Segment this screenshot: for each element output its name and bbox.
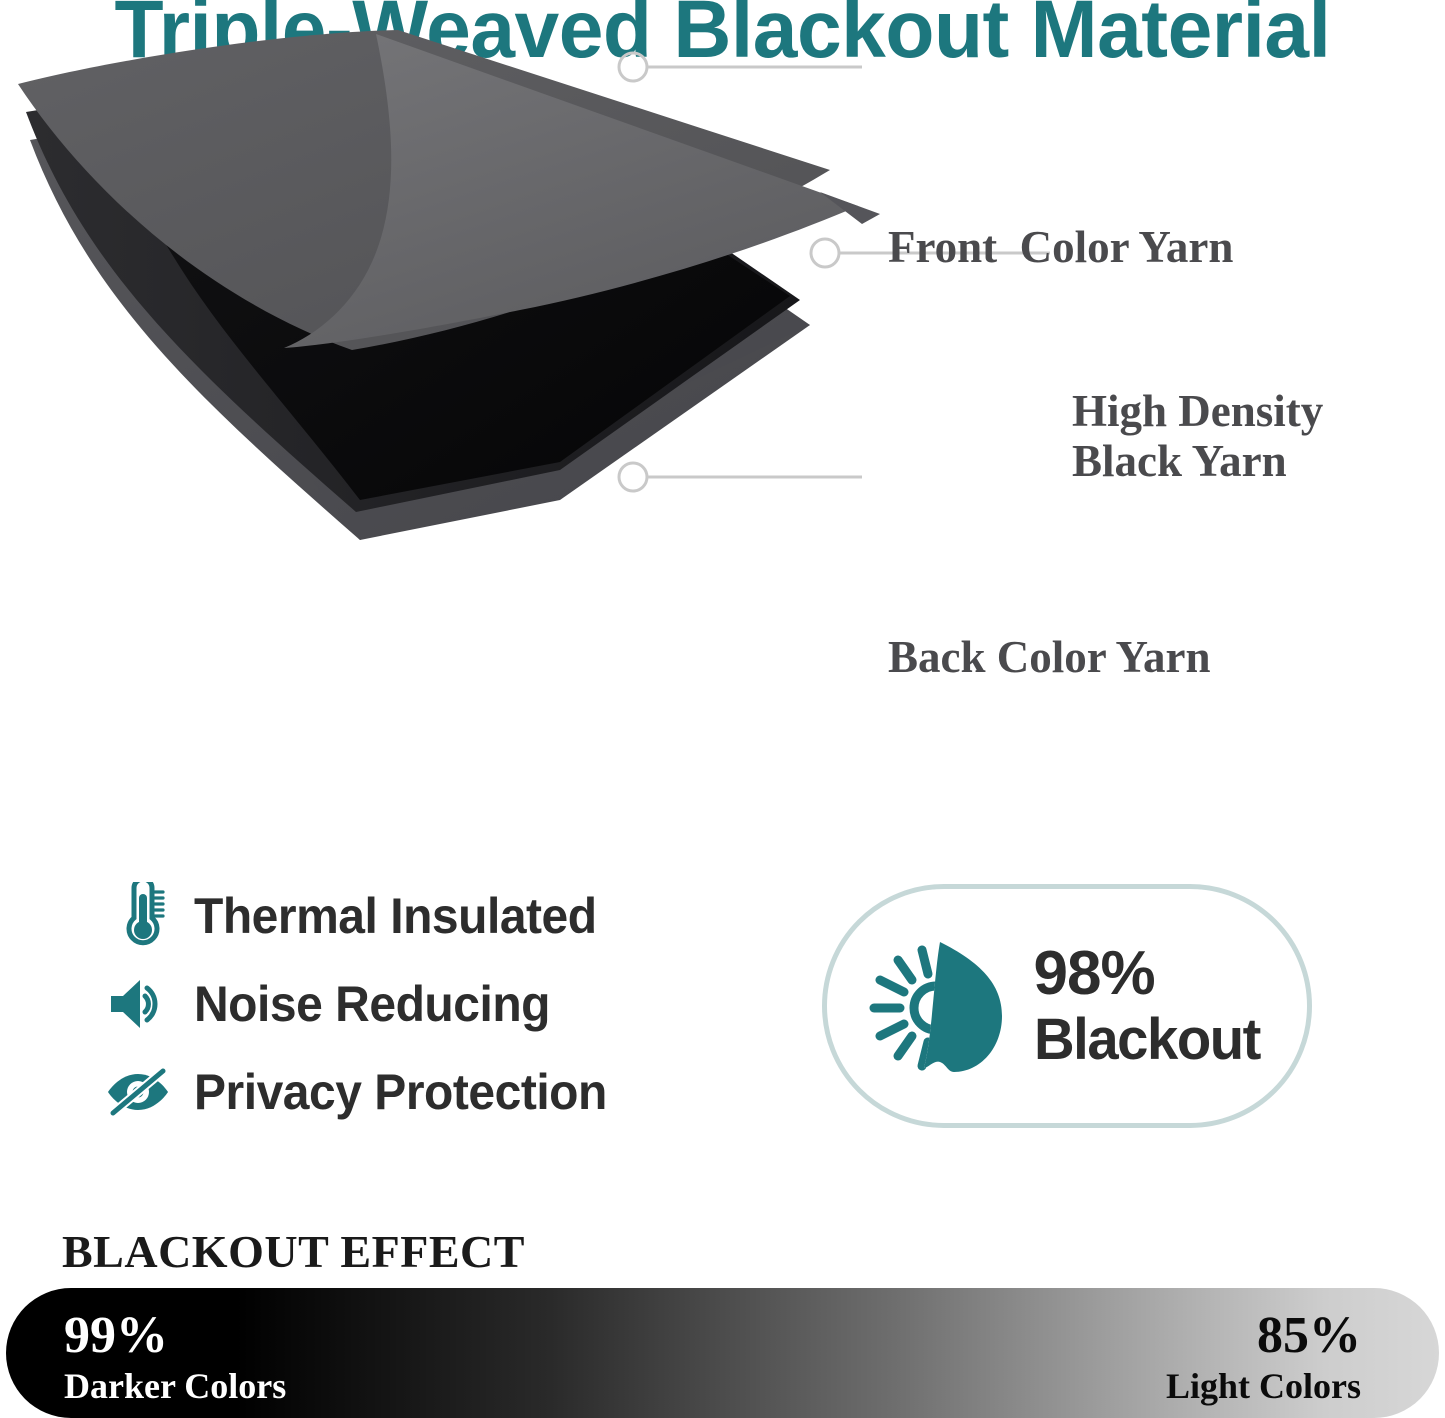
feature-list: Thermal Insulated Noise Reducing Privacy… — [100, 872, 740, 1136]
badge-word: Blackout — [1034, 1011, 1260, 1069]
label-back-color-yarn: Back Color Yarn — [888, 632, 1211, 682]
effect-left-stat: 99% Darker Colors — [64, 1310, 286, 1404]
label-line-1: High Density — [1072, 386, 1323, 436]
feature-label: Thermal Insulated — [194, 887, 597, 945]
label-high-density-black-yarn: High DensityBlack Yarn — [1072, 386, 1323, 487]
leader-dot-front — [619, 53, 647, 81]
blackout-badge: 98% Blackout — [822, 884, 1312, 1128]
leader-dot-back — [619, 463, 647, 491]
effect-left-percent: 99% — [64, 1310, 286, 1362]
thermometer-icon — [100, 882, 176, 950]
blackout-effect-title: BLACKOUT EFFECT — [62, 1225, 525, 1278]
fabric-layers-diagram: Front Color Yarn High DensityBlack Yarn … — [0, 0, 1445, 600]
badge-text: 98% Blackout — [1034, 943, 1267, 1069]
feature-label: Noise Reducing — [194, 975, 550, 1033]
badge-percent: 98% — [1034, 943, 1267, 1005]
feature-thermal-insulated: Thermal Insulated — [100, 872, 740, 960]
label-line-2: Black Yarn — [1072, 436, 1287, 486]
effect-right-sublabel: Light Colors — [1166, 1368, 1361, 1404]
eye-slash-icon — [100, 1068, 176, 1116]
label-front-color-yarn: Front Color Yarn — [888, 222, 1233, 272]
feature-privacy-protection: Privacy Protection — [100, 1048, 740, 1136]
blackout-effect-gradient-bar: 99% Darker Colors 85% Light Colors — [6, 1288, 1439, 1418]
feature-noise-reducing: Noise Reducing — [100, 960, 740, 1048]
sun-blocking-icon — [862, 928, 1012, 1085]
feature-label: Privacy Protection — [194, 1063, 607, 1121]
effect-right-stat: 85% Light Colors — [1166, 1310, 1361, 1404]
speaker-icon — [100, 976, 176, 1032]
effect-left-sublabel: Darker Colors — [64, 1368, 286, 1404]
effect-right-percent: 85% — [1166, 1310, 1361, 1362]
